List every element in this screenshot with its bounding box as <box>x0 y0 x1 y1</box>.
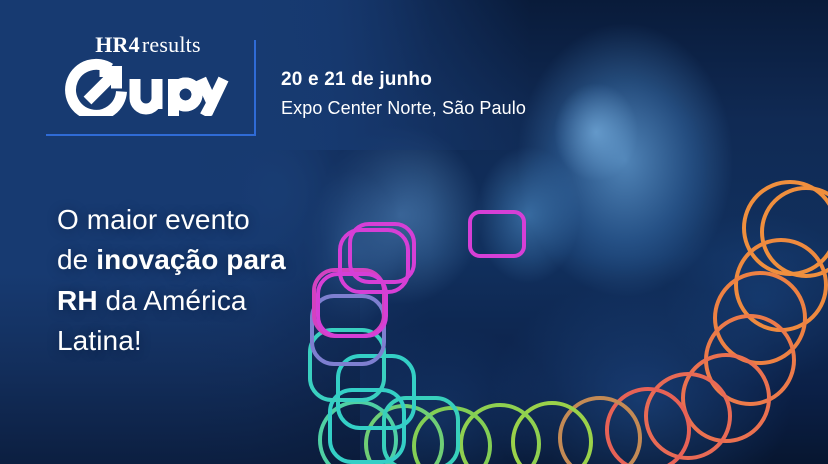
vertical-rule <box>254 40 256 136</box>
event-date: 20 e 21 de junho <box>281 68 526 92</box>
headline-line-2: de inovação para <box>57 240 286 280</box>
event-location: Expo Center Norte, São Paulo <box>281 97 526 120</box>
gupy-wordmark-icon <box>65 58 231 116</box>
brand-tagline-bold: HR4 <box>95 32 140 57</box>
headline-line-3-light: da América <box>98 285 247 316</box>
headline-line-2-bold: inovação para <box>96 244 286 275</box>
headline-line-2-light: de <box>57 244 96 275</box>
gupy-logo <box>58 58 238 116</box>
brand-lockup: HR4 results <box>58 34 238 116</box>
headline-line-1: O maior evento <box>57 200 286 240</box>
promo-banner: HR4 results 20 e 21 de j <box>0 0 828 464</box>
headline-line-4-text: Latina! <box>57 325 142 356</box>
event-info: 20 e 21 de junho Expo Center Norte, São … <box>281 68 526 119</box>
horizontal-rule <box>46 134 255 136</box>
headline-line-1-text: O maior evento <box>57 204 250 235</box>
headline: O maior evento de inovação para RH da Am… <box>57 200 286 361</box>
headline-line-4: Latina! <box>57 321 286 361</box>
headline-line-3-bold: RH <box>57 285 98 316</box>
headline-line-3: RH da América <box>57 281 286 321</box>
brand-tagline-light: results <box>142 32 201 57</box>
brand-tagline: HR4 results <box>58 34 238 56</box>
